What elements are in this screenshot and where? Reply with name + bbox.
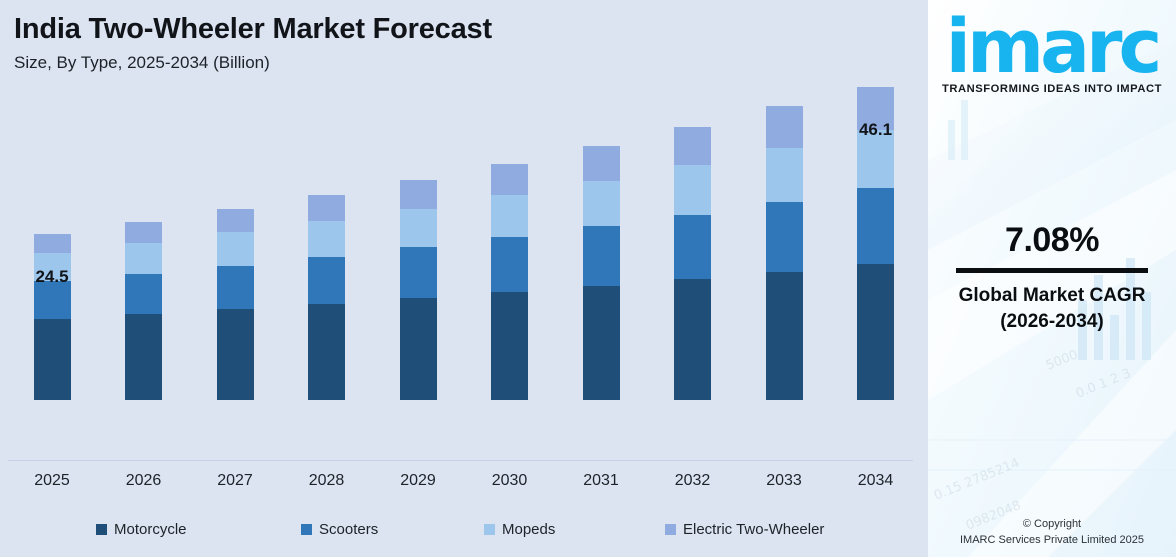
bar-segment-electric-two-wheeler[interactable] — [491, 164, 528, 195]
bar-segment-motorcycle[interactable] — [857, 264, 894, 400]
cagr-callout: 7.08% Global Market CAGR (2026-2034) — [928, 222, 1176, 335]
chart-legend: MotorcycleScootersMopedsElectric Two-Whe… — [0, 518, 928, 546]
bar-segment-electric-two-wheeler[interactable] — [125, 222, 162, 243]
bar-2028[interactable] — [308, 195, 345, 400]
x-axis-label-2031: 2031 — [556, 472, 646, 490]
bar-segment-mopeds[interactable] — [400, 209, 437, 248]
x-axis-label-2028: 2028 — [282, 472, 372, 490]
legend-item-scooters[interactable]: Scooters — [301, 521, 378, 538]
infographic-root: India Two-Wheeler Market Forecast Size, … — [0, 0, 1176, 557]
bar-segment-electric-two-wheeler[interactable] — [400, 180, 437, 209]
legend-swatch-icon — [484, 524, 495, 535]
bar-segment-electric-two-wheeler[interactable] — [583, 146, 620, 181]
bar-segment-scooters[interactable] — [583, 226, 620, 286]
cagr-period: (2026-2034) — [928, 309, 1176, 335]
logo-mark: imarc — [932, 12, 1172, 82]
bar-segment-scooters[interactable] — [766, 202, 803, 272]
bar-segment-mopeds[interactable] — [125, 243, 162, 274]
bar-segment-scooters[interactable] — [400, 247, 437, 298]
legend-swatch-icon — [301, 524, 312, 535]
bar-segment-mopeds[interactable] — [583, 181, 620, 226]
bar-segment-mopeds[interactable] — [766, 148, 803, 202]
bar-segment-motorcycle[interactable] — [125, 314, 162, 400]
legend-item-mopeds[interactable]: Mopeds — [484, 521, 555, 538]
bar-segment-scooters[interactable] — [674, 215, 711, 280]
bar-segment-scooters[interactable] — [125, 274, 162, 314]
x-axis-label-2033: 2033 — [739, 472, 829, 490]
legend-item-electric-two-wheeler[interactable]: Electric Two-Wheeler — [665, 521, 824, 538]
copyright-line-2: IMARC Services Private Limited 2025 — [928, 533, 1176, 549]
legend-label: Motorcycle — [114, 521, 187, 538]
legend-swatch-icon — [96, 524, 107, 535]
copyright-block: © Copyright IMARC Services Private Limit… — [928, 517, 1176, 549]
bar-segment-motorcycle[interactable] — [766, 272, 803, 400]
brand-panel: 0.15 2785214 0982048 5000 0.0 1 2 3 imar… — [928, 0, 1176, 557]
bar-2027[interactable] — [217, 209, 254, 400]
bar-segment-motorcycle[interactable] — [34, 319, 71, 400]
bar-segment-electric-two-wheeler[interactable] — [217, 209, 254, 232]
chart-panel: India Two-Wheeler Market Forecast Size, … — [0, 0, 928, 557]
legend-label: Electric Two-Wheeler — [683, 521, 824, 538]
value-label-2025: 24.5 — [7, 267, 97, 287]
x-axis-label-2026: 2026 — [99, 472, 189, 490]
cagr-caption: Global Market CAGR — [928, 283, 1176, 309]
legend-label: Scooters — [319, 521, 378, 538]
bar-segment-scooters[interactable] — [34, 281, 71, 318]
value-label-2034: 46.1 — [831, 120, 921, 140]
x-axis-label-2034: 2034 — [831, 472, 921, 490]
x-axis-label-2029: 2029 — [373, 472, 463, 490]
bar-segment-electric-two-wheeler[interactable] — [766, 106, 803, 148]
cagr-divider — [956, 268, 1148, 273]
bar-2033[interactable] — [766, 106, 803, 400]
bar-segment-scooters[interactable] — [217, 266, 254, 309]
bar-segment-motorcycle[interactable] — [583, 286, 620, 400]
bar-segment-scooters[interactable] — [491, 237, 528, 292]
bar-segment-scooters[interactable] — [308, 257, 345, 304]
legend-item-motorcycle[interactable]: Motorcycle — [96, 521, 187, 538]
bar-2030[interactable] — [491, 164, 528, 400]
x-axis-label-2030: 2030 — [465, 472, 555, 490]
x-axis-label-2032: 2032 — [648, 472, 738, 490]
legend-swatch-icon — [665, 524, 676, 535]
plot-area: 24.5202520262027202820292030203120322033… — [0, 0, 928, 497]
bar-2029[interactable] — [400, 180, 437, 400]
logo-wordmark: imarc — [932, 12, 1172, 82]
bar-2031[interactable] — [583, 146, 620, 400]
bar-segment-mopeds[interactable] — [308, 221, 345, 257]
bar-segment-mopeds[interactable] — [674, 165, 711, 215]
bar-segment-electric-two-wheeler[interactable] — [674, 127, 711, 165]
legend-label: Mopeds — [502, 521, 555, 538]
x-axis-label-2027: 2027 — [190, 472, 280, 490]
bar-2025[interactable] — [34, 234, 71, 400]
bar-segment-motorcycle[interactable] — [491, 292, 528, 400]
bar-segment-motorcycle[interactable] — [674, 279, 711, 400]
bar-segment-motorcycle[interactable] — [217, 309, 254, 400]
bar-segment-motorcycle[interactable] — [400, 298, 437, 400]
bar-segment-mopeds[interactable] — [217, 232, 254, 265]
bar-segment-electric-two-wheeler[interactable] — [308, 195, 345, 221]
bar-segment-electric-two-wheeler[interactable] — [34, 234, 71, 253]
bar-2032[interactable] — [674, 127, 711, 400]
bar-segment-scooters[interactable] — [857, 188, 894, 264]
copyright-line-1: © Copyright — [928, 517, 1176, 533]
bar-2026[interactable] — [125, 222, 162, 400]
cagr-value: 7.08% — [928, 222, 1176, 259]
bar-segment-motorcycle[interactable] — [308, 304, 345, 400]
bar-segment-mopeds[interactable] — [491, 195, 528, 237]
axis-baseline — [8, 460, 913, 461]
x-axis-label-2025: 2025 — [7, 472, 97, 490]
imarc-logo: imarc TRANSFORMING IDEAS INTO IMPACT — [928, 12, 1176, 95]
